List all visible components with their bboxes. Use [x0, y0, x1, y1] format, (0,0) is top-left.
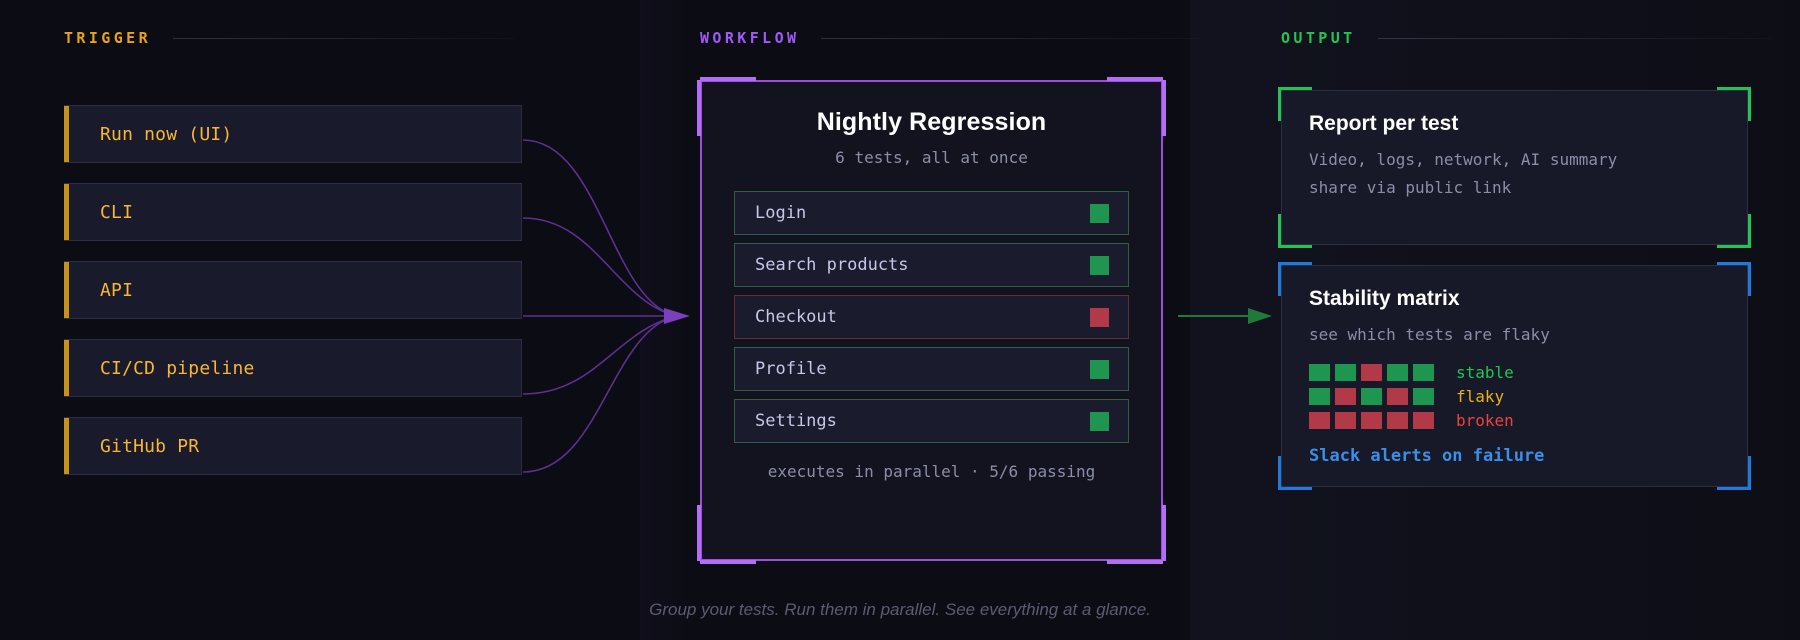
test-name: Checkout: [755, 307, 837, 327]
matrix-row-broken: broken: [1309, 411, 1720, 430]
matrix-cell: [1387, 388, 1408, 405]
card-edge-left: [1281, 90, 1282, 245]
bracket-bl-v: [1278, 456, 1281, 490]
trigger-label: CLI: [64, 202, 133, 223]
test-list: Login Search products Checkout Profile S…: [734, 191, 1129, 443]
matrix-row-flaky: flaky: [1309, 387, 1720, 406]
bracket-tl-h: [1278, 262, 1312, 265]
matrix-cell: [1361, 388, 1382, 405]
stability-card-title: Stability matrix: [1309, 287, 1720, 311]
corner-accent-tl-v: [697, 80, 701, 136]
report-card-title: Report per test: [1309, 112, 1720, 136]
corner-accent-br-v: [1162, 505, 1166, 561]
trigger-item-github-pr[interactable]: GitHub PR: [64, 417, 522, 475]
accent-bar: [64, 418, 69, 474]
card-edge-top: [1281, 90, 1748, 91]
test-row-login[interactable]: Login: [734, 191, 1129, 235]
matrix-cell: [1413, 388, 1434, 405]
workflow-title: Nightly Regression: [702, 108, 1161, 137]
bracket-br-h: [1717, 487, 1751, 490]
status-chip-pass: [1090, 256, 1109, 275]
output-card-report[interactable]: Report per test Video, logs, network, AI…: [1281, 90, 1748, 245]
status-chip-pass: [1090, 412, 1109, 431]
matrix-cell: [1413, 412, 1434, 429]
report-card-line-1: Video, logs, network, AI summary: [1309, 146, 1720, 174]
stability-card-subtitle: see which tests are flaky: [1309, 321, 1720, 349]
bracket-tl-h: [1278, 87, 1312, 90]
accent-bar: [64, 184, 69, 240]
column-kicker-output: OUTPUT: [1281, 29, 1356, 47]
bracket-bl-h: [1278, 245, 1312, 248]
workflow-column-backdrop: [640, 0, 700, 640]
bracket-tr-v: [1748, 87, 1751, 121]
trigger-item-run-now[interactable]: Run now (UI): [64, 105, 522, 163]
accent-bar: [64, 340, 69, 396]
column-header-trigger: TRIGGER: [64, 28, 514, 48]
trigger-item-cli[interactable]: CLI: [64, 183, 522, 241]
flow-arrowhead: [664, 308, 690, 324]
matrix-cell: [1413, 364, 1434, 381]
corner-accent-tr-v: [1162, 80, 1166, 136]
card-edge-bottom: [1281, 244, 1748, 245]
corner-accent-tl-h: [700, 77, 756, 81]
trigger-item-cicd[interactable]: CI/CD pipeline: [64, 339, 522, 397]
card-edge-top: [1281, 265, 1748, 266]
trigger-label: Run now (UI): [64, 124, 232, 145]
column-header-output: OUTPUT: [1281, 28, 1771, 48]
slack-alerts-link[interactable]: Slack alerts on failure: [1309, 446, 1720, 466]
column-header-workflow: WORKFLOW: [700, 28, 1200, 48]
bracket-br-v: [1748, 214, 1751, 248]
bracket-tl-v: [1278, 262, 1281, 296]
test-row-search-products[interactable]: Search products: [734, 243, 1129, 287]
test-name: Profile: [755, 359, 827, 379]
matrix-cell: [1387, 412, 1408, 429]
matrix-row-stable: stable: [1309, 363, 1720, 382]
trigger-label: API: [64, 280, 133, 301]
accent-bar: [64, 262, 69, 318]
test-row-profile[interactable]: Profile: [734, 347, 1129, 391]
bracket-tr-h: [1717, 262, 1751, 265]
header-divider-trigger: [173, 38, 514, 39]
test-name: Search products: [755, 255, 909, 275]
bracket-br-h: [1717, 245, 1751, 248]
bracket-tr-h: [1717, 87, 1751, 90]
card-edge-right: [1747, 265, 1748, 487]
corner-accent-bl-h: [700, 560, 756, 564]
bracket-tl-v: [1278, 87, 1281, 121]
stability-matrix: stable flaky broken: [1309, 363, 1720, 430]
status-chip-pass: [1090, 204, 1109, 223]
matrix-row-label: flaky: [1456, 387, 1504, 406]
workflow-footer: executes in parallel · 5/6 passing: [702, 462, 1161, 481]
matrix-cell: [1361, 412, 1382, 429]
test-name: Login: [755, 203, 806, 223]
matrix-cell: [1335, 364, 1356, 381]
trigger-label: GitHub PR: [64, 436, 199, 457]
workflow-to-output-arrow: [1178, 308, 1272, 324]
diagram-canvas: TRIGGER WORKFLOW OUTPUT Run now (UI) CLI…: [0, 0, 1800, 640]
matrix-row-label: stable: [1456, 363, 1514, 382]
matrix-cell: [1387, 364, 1408, 381]
bracket-br-v: [1748, 456, 1751, 490]
matrix-cell: [1309, 364, 1330, 381]
matrix-cell: [1309, 388, 1330, 405]
matrix-cell: [1335, 412, 1356, 429]
column-kicker-trigger: TRIGGER: [64, 29, 151, 47]
bracket-bl-h: [1278, 487, 1312, 490]
corner-accent-tr-h: [1107, 77, 1163, 81]
report-card-line-2: share via public link: [1309, 174, 1720, 202]
status-chip-pass: [1090, 360, 1109, 379]
header-divider-workflow: [821, 38, 1200, 39]
output-card-stability[interactable]: Stability matrix see which tests are fla…: [1281, 265, 1748, 487]
column-kicker-workflow: WORKFLOW: [700, 29, 799, 47]
bracket-bl-v: [1278, 214, 1281, 248]
matrix-cell: [1309, 412, 1330, 429]
card-edge-left: [1281, 265, 1282, 487]
test-row-checkout[interactable]: Checkout: [734, 295, 1129, 339]
footer-caption: Group your tests. Run them in parallel. …: [0, 600, 1800, 620]
card-edge-bottom: [1281, 486, 1748, 487]
matrix-cell: [1335, 388, 1356, 405]
test-row-settings[interactable]: Settings: [734, 399, 1129, 443]
trigger-label: CI/CD pipeline: [64, 358, 255, 379]
status-chip-fail: [1090, 308, 1109, 327]
matrix-row-label: broken: [1456, 411, 1514, 430]
bracket-tr-v: [1748, 262, 1751, 296]
corner-accent-bl-v: [697, 505, 701, 561]
test-name: Settings: [755, 411, 837, 431]
trigger-item-api[interactable]: API: [64, 261, 522, 319]
header-divider-output: [1378, 38, 1771, 39]
workflow-panel: Nightly Regression 6 tests, all at once …: [700, 80, 1163, 561]
matrix-cell: [1361, 364, 1382, 381]
workflow-subtitle: 6 tests, all at once: [702, 148, 1161, 167]
corner-accent-br-h: [1107, 560, 1163, 564]
accent-bar: [64, 106, 69, 162]
trigger-list: Run now (UI) CLI API CI/CD pipeline GitH…: [64, 105, 522, 495]
